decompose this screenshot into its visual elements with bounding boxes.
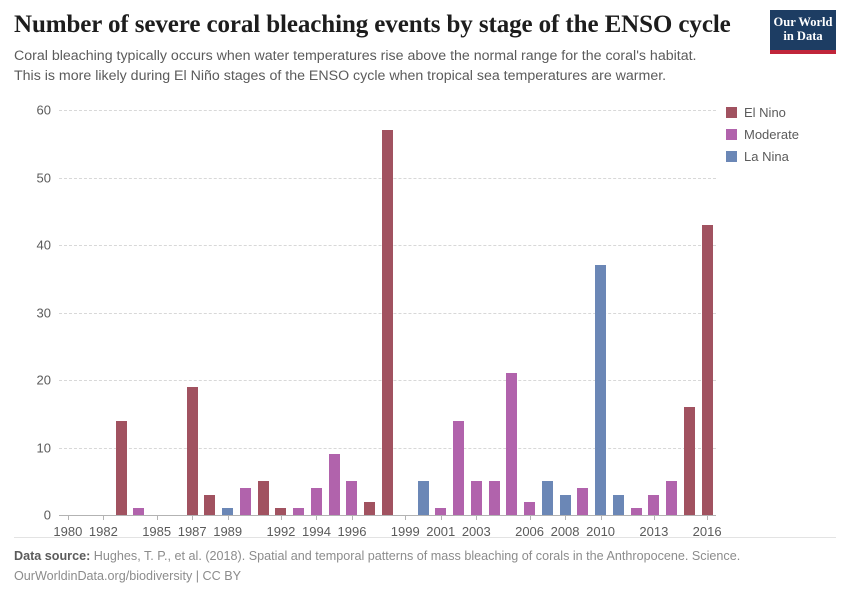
data-source-line: Data source: Hughes, T. P., et al. (2018… [14, 546, 836, 566]
bar-1994[interactable] [311, 488, 322, 515]
x-axis-tick-mark [405, 515, 406, 520]
x-axis-tick-mark [601, 515, 602, 520]
bar-2016[interactable] [702, 225, 713, 515]
y-axis-tick-label: 10 [17, 440, 51, 455]
bar-2007[interactable] [542, 481, 553, 515]
bar-1991[interactable] [258, 481, 269, 515]
bar-2004[interactable] [489, 481, 500, 515]
bar-1984[interactable] [133, 508, 144, 515]
bar-2000[interactable] [418, 481, 429, 515]
bar-1998[interactable] [382, 130, 393, 515]
bar-1996[interactable] [346, 481, 357, 515]
bar-2001[interactable] [435, 508, 446, 515]
x-axis-tick-mark [654, 515, 655, 520]
bar-2013[interactable] [648, 495, 659, 515]
y-axis-tick-label: 30 [17, 305, 51, 320]
grid-line [59, 110, 716, 111]
x-axis-tick-mark [281, 515, 282, 520]
bar-2003[interactable] [471, 481, 482, 515]
bar-1989[interactable] [222, 508, 233, 515]
bar-1992[interactable] [275, 508, 286, 515]
y-axis-tick-label: 50 [17, 170, 51, 185]
x-axis-tick-mark [707, 515, 708, 520]
data-source-label: Data source: [14, 549, 90, 563]
x-axis-tick-mark [352, 515, 353, 520]
y-axis-tick-label: 0 [17, 508, 51, 523]
bar-2011[interactable] [613, 495, 624, 515]
bar-2010[interactable] [595, 265, 606, 515]
x-axis-tick-mark [530, 515, 531, 520]
bar-2008[interactable] [560, 495, 571, 515]
chart-footer: Data source: Hughes, T. P., et al. (2018… [14, 537, 836, 586]
bar-1987[interactable] [187, 387, 198, 515]
bar-2015[interactable] [684, 407, 695, 515]
y-axis-tick-label: 20 [17, 373, 51, 388]
bar-2002[interactable] [453, 421, 464, 516]
x-axis-tick-mark [192, 515, 193, 520]
bar-1983[interactable] [116, 421, 127, 516]
bar-1990[interactable] [240, 488, 251, 515]
bar-2014[interactable] [666, 481, 677, 515]
bar-1988[interactable] [204, 495, 215, 515]
bar-1995[interactable] [329, 454, 340, 515]
bar-2012[interactable] [631, 508, 642, 515]
bar-2005[interactable] [506, 373, 517, 515]
x-axis-tick-mark [316, 515, 317, 520]
x-axis-tick-mark [228, 515, 229, 520]
x-axis-tick-mark [68, 515, 69, 520]
x-axis-tick-mark [565, 515, 566, 520]
bar-2006[interactable] [524, 502, 535, 516]
x-axis-tick-mark [476, 515, 477, 520]
bar-1997[interactable] [364, 502, 375, 516]
bar-2009[interactable] [577, 488, 588, 515]
license-line[interactable]: OurWorldinData.org/biodiversity | CC BY [14, 566, 836, 586]
data-source-text: Hughes, T. P., et al. (2018). Spatial an… [94, 549, 740, 563]
x-axis-tick-mark [157, 515, 158, 520]
x-axis-tick-mark [441, 515, 442, 520]
y-axis-tick-label: 40 [17, 238, 51, 253]
plot-area: 0102030405060198019821985198719891992199… [0, 0, 850, 600]
y-axis-tick-label: 60 [17, 103, 51, 118]
chart-page: Number of severe coral bleaching events … [0, 0, 850, 600]
x-axis-tick-mark [103, 515, 104, 520]
bar-1993[interactable] [293, 508, 304, 515]
